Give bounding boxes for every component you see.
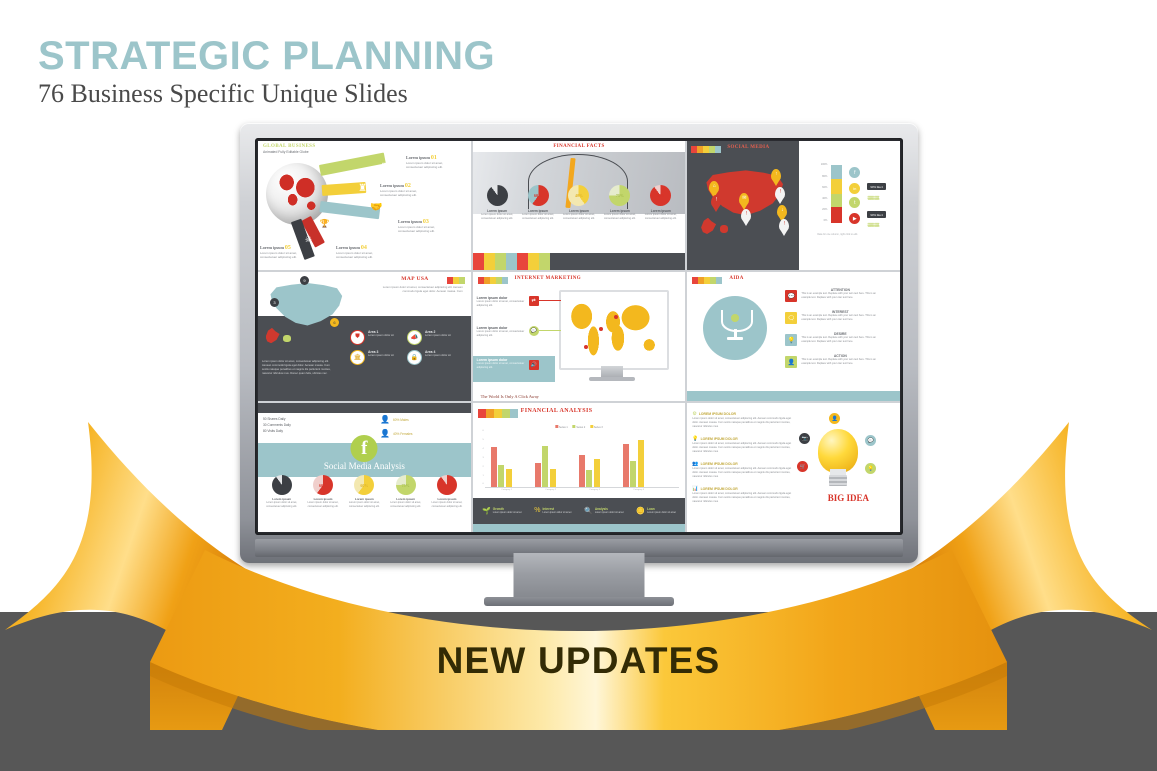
callout-body: Lorem ipsum dolor sit amet, consectetuer… [477,362,525,369]
slide-internet-marketing[interactable]: INTERNET MARKETING Lo [473,272,686,401]
step-body: This is an example text. Replace with yo… [801,292,879,299]
area-item[interactable]: 🔒 Area 4 Lorem ipsum dolor sit [407,350,458,365]
list-item[interactable]: Lorem ipsum 03 Lorem ipsum dolor sit ame… [398,219,450,234]
side-body: Lorem ipsum dolor sit amet, consectetuer… [262,360,336,376]
list-item[interactable]: Lorem ipsum 04 Lorem ipsum dolor sit ame… [336,245,386,260]
donut-value: 60% [360,483,368,488]
donut-chart: 60% [528,185,549,206]
donut-item[interactable]: 90% Lorem ipsum Lorem ipsum dolor sit am… [480,185,514,221]
map-dot [614,315,618,319]
item-heading: Lorem ipsum [336,245,360,250]
slide-title: AIDA [729,276,743,281]
item-heading: Lorem ipsum [260,245,284,250]
twitter-icon[interactable]: t [849,197,860,208]
slide-subtitle: Animated Fully Editable Globe [263,150,309,154]
trophy-icon: ♜ [356,182,369,195]
axis-tick: 0% [824,219,828,222]
slide-map-usa[interactable]: 9 3 6 MAP USA Lorem ipsum dolor sit amet… [258,272,471,401]
map-marker[interactable]: 3 [270,298,279,307]
connector-line [539,300,561,301]
page-title: STRATEGIC PLANNING [38,36,658,76]
map-dot [599,327,603,331]
slide-title: GLOBAL BUSINESS [263,144,316,149]
monitor-base [589,377,635,381]
list-item[interactable]: Lorem ipsum 05 Lorem ipsum dolor sit ame… [260,245,308,260]
slide-body: Lorem ipsum dolor sit amet, consectetuer… [371,285,463,293]
callout-item[interactable]: Lorem ipsum dolor Lorem ipsum dolor sit … [477,326,527,338]
ribbon-arrow-01 [319,153,386,176]
map-pin[interactable]: ↑ [771,169,781,182]
share-icon[interactable]: ⇄ [529,296,539,306]
youtube-icon[interactable]: ▶ [849,213,860,224]
building-icon: 🏛 [350,350,365,365]
slide-financial-facts[interactable]: FINANCIAL FACTS 90% Lorem ipsum [473,141,686,270]
donut-value: 60% [534,193,542,198]
callout-body: Lorem ipsum dolor sit amet, consectetuer… [477,330,527,338]
donut-chart: 90% [650,185,671,206]
poster-canvas: STRATEGIC PLANNING 76 Business Specific … [0,0,1157,771]
headline-block: STRATEGIC PLANNING 76 Business Specific … [38,36,658,109]
map-pin[interactable]: ! [711,195,721,208]
map-pin[interactable]: ! [775,187,785,200]
y-axis: 100% 80% 60% 40% 20% 0% [805,165,829,223]
item-body: Lorem ipsum dolor sit amet, consectetuer… [336,251,386,260]
item-heading: Lorem ipsum [406,155,430,160]
donut-row: 90% Lorem ipsum Lorem ipsum dolor sit am… [473,185,686,221]
tooltip-badge: 90% like it [867,211,886,218]
lock-icon: 🔒 [407,350,422,365]
slide-social-media[interactable]: SOCIAL MEDIA ⌂ ! ✉ ! ↑ ! ↓ ! [687,141,900,270]
linkedin-icon[interactable]: in [849,183,860,194]
slide-title: MAP USA [401,276,428,282]
callout-body: Lorem ipsum dolor sit amet, consectetuer… [477,300,527,308]
trophy-medal [731,314,739,321]
donut-value: 40% [575,193,583,198]
item-body: Lorem ipsum dolor sit amet, consectetuer… [260,251,308,260]
axis-tick: 80% [822,175,827,178]
callout-item[interactable]: Lorem ipsum dolor Lorem ipsum dolor sit … [477,358,525,369]
donut-chart: 40% [568,185,589,206]
axis-tick: 60% [822,186,827,189]
stacked-bar [831,165,842,223]
area-item[interactable]: ⛊ Area 1 Lorem ipsum dolor sit [350,330,401,345]
aida-step[interactable]: ACTION This is an example text. Replace … [801,354,879,365]
color-chip-strip [447,277,465,284]
map-pin[interactable]: ! [779,219,789,232]
item-body: Lorem ipsum dolor sit amet, consectetuer… [406,161,458,170]
color-chip-strip [692,277,722,284]
speaker-icon[interactable]: 🔊 [529,360,539,370]
step-body: This is an example text. Replace with yo… [801,336,879,343]
trophy-badge [703,296,767,360]
chat-icon[interactable]: 💬 [529,326,539,336]
donut-body: Lorem ipsum dolor sit amet, consectetuer… [521,213,555,221]
donut-chart: 90% [487,185,508,206]
rating-people-icons: ŧŧŧŧŧŧŧŧŧŧ [867,196,879,202]
area-body: Lorem ipsum dolor sit [368,354,394,358]
list-item[interactable]: Lorem ipsum 02 Lorem ipsum dolor sit ame… [380,183,432,198]
donut-body: Lorem ipsum dolor sit amet, consectetuer… [480,213,514,221]
item-heading: Lorem ipsum [398,219,422,224]
slide-aida[interactable]: AIDA 💬 ATTENTION This is an example text… [687,272,900,401]
area-body: Lorem ipsum dolor sit [425,354,451,358]
area-grid: ⛊ Area 1 Lorem ipsum dolor sit 📣 Area 2 … [350,330,458,365]
donut-value: 90% [657,193,665,198]
aida-step[interactable]: INTEREST This is an example text. Replac… [801,310,879,321]
map-pin[interactable]: ⌂ [709,181,719,194]
axis-tick: 100% [821,163,828,166]
map-pin[interactable]: ✉ [739,193,749,206]
slide-title: FINANCIAL FACTS [553,144,604,149]
donut-item[interactable]: 40% Lorem ipsum Lorem ipsum dolor sit am… [562,185,596,221]
color-chip-strip [691,146,721,153]
color-chip-strip [473,253,550,270]
callout-item[interactable]: Lorem ipsum dolor Lorem ipsum dolor sit … [477,296,527,308]
step-body: This is an example text. Replace with yo… [801,314,879,321]
donut-chart: 75% [609,185,630,206]
comment-icon[interactable]: 🗨 [785,312,797,324]
donut-body: Lorem ipsum dolor sit amet, consectetuer… [603,213,637,221]
step-body: This is an example text. Replace with yo… [801,358,879,365]
donut-value: 90% [278,483,286,488]
globe-graphic [266,163,328,225]
slide-title: INTERNET MARKETING [515,276,581,281]
axis-tick: 40% [822,197,827,200]
item-heading: Lorem ipsum [380,183,404,188]
color-chip-strip [478,277,508,284]
facebook-icon[interactable]: f [849,167,860,178]
donut-body: Lorem ipsum dolor sit amet, consectetuer… [644,213,678,221]
area-body: Lorem ipsum dolor sit [425,334,451,338]
area-item[interactable]: 📣 Area 2 Lorem ipsum dolor sit [407,330,458,345]
shield-icon: ⛊ [350,330,365,345]
axis-tick: 20% [822,208,827,211]
slide-tagline: The World Is Only A Click Away [481,394,539,399]
area-body: Lorem ipsum dolor sit [368,334,394,338]
rating-people-icons: ŧŧŧŧŧŧŧŧŧŧ [867,223,879,229]
donut-body: Lorem ipsum dolor sit amet, consectetuer… [562,213,596,221]
connector-line [539,330,561,331]
slide-global-business[interactable]: GLOBAL BUSINESS Animated Fully Editable … [258,141,471,270]
chart-footnote: Data for one column, right click to edit… [817,233,858,236]
item-body: Lorem ipsum dolor sit amet, consectetuer… [380,189,432,198]
item-body: Lorem ipsum dolor sit amet, consectetuer… [398,225,450,234]
award-icon: 🏆 [318,217,331,230]
donut-item[interactable]: 75% Lorem ipsum Lorem ipsum dolor sit am… [603,185,637,221]
chat-filled-icon[interactable]: 💬 [785,290,797,302]
usa-map [262,276,350,346]
page-subtitle: 76 Business Specific Unique Slides [38,80,658,109]
dark-footer-band [550,253,686,270]
list-item[interactable]: Lorem ipsum 01 Lorem ipsum dolor sit ame… [406,155,458,170]
aida-step[interactable]: DESIRE This is an example text. Replace … [801,332,879,343]
map-pin[interactable]: ↓ [777,205,787,218]
donut-value: 75% [402,483,410,488]
area-item[interactable]: 🏛 Area 3 Lorem ipsum dolor sit [350,350,401,365]
aida-step[interactable]: ATTENTION This is an example text. Repla… [801,288,879,299]
tooltip-badge: 90% like it [867,183,886,190]
bulb-icon[interactable]: 💡 [785,334,797,346]
trophy-icon [721,310,749,344]
calendar-icon: ▤ [380,160,393,173]
donut-value: 90% [443,483,451,488]
lcd-monitor [559,290,669,370]
donut-value: 75% [616,193,624,198]
banner-label: NEW UPDATES [0,640,1157,682]
donut-value: 90% [493,193,501,198]
handshake-icon: 🤝 [370,201,383,214]
user-add-icon[interactable]: 👤 [785,356,797,368]
donut-value: 60% [319,483,327,488]
map-pin[interactable]: ! [741,209,751,222]
donut-item[interactable]: 60% Lorem ipsum Lorem ipsum dolor sit am… [521,185,555,221]
slide-title: SOCIAL MEDIA [727,145,769,150]
donut-item[interactable]: 90% Lorem ipsum Lorem ipsum dolor sit am… [644,185,678,221]
map-marker[interactable]: 9 [300,276,309,285]
megaphone-icon: 📣 [407,330,422,345]
map-marker[interactable]: 6 [330,318,339,327]
